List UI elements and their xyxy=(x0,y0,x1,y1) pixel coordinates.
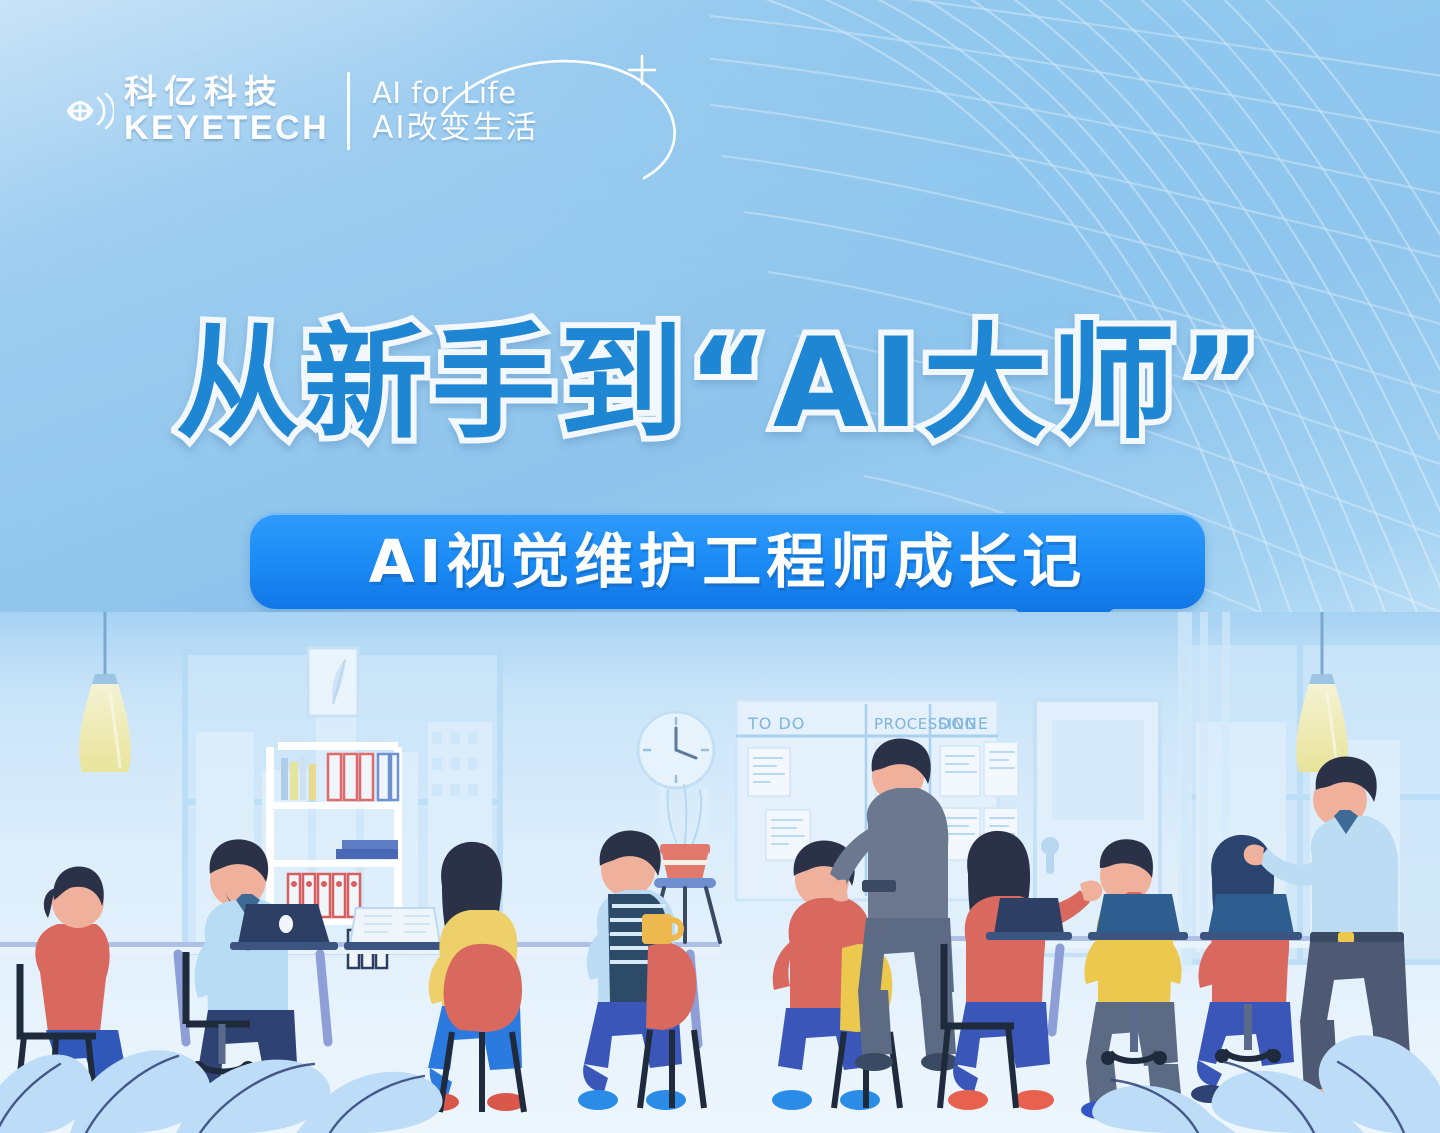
framed-leaf-picture xyxy=(308,648,358,716)
eye-logo-icon xyxy=(62,89,114,133)
brand-name-en: KEYETECH xyxy=(124,111,329,147)
tagline-en: AI for Life xyxy=(372,76,538,110)
wall-clock xyxy=(638,712,714,788)
brand-tagline: AI for Life AI改变生活 xyxy=(372,76,538,147)
subtitle-banner: AI视觉维护工程师成长记 xyxy=(250,513,1205,609)
tagline-cn: AI改变生活 xyxy=(372,110,538,147)
subtitle-text: AI视觉维护工程师成长记 xyxy=(369,532,1087,591)
kanban-col-todo: TO DO xyxy=(747,714,805,733)
logo-divider xyxy=(347,72,350,150)
laptops-right xyxy=(986,894,1302,940)
office-illustration: TO DO PROCESSING DONE xyxy=(0,612,1440,1133)
main-title: 从新手到“AI大师” xyxy=(0,322,1440,446)
brand-logo: 科亿科技 KEYETECH AI for Life AI改变生活 xyxy=(62,72,539,150)
poster-canvas: 科亿科技 KEYETECH AI for Life AI改变生活 从新手到“AI… xyxy=(0,0,1440,1133)
kanban-col-done: DONE xyxy=(938,714,989,733)
sparkle-icon xyxy=(629,56,655,84)
brand-name-cn: 科亿科技 xyxy=(124,75,329,110)
